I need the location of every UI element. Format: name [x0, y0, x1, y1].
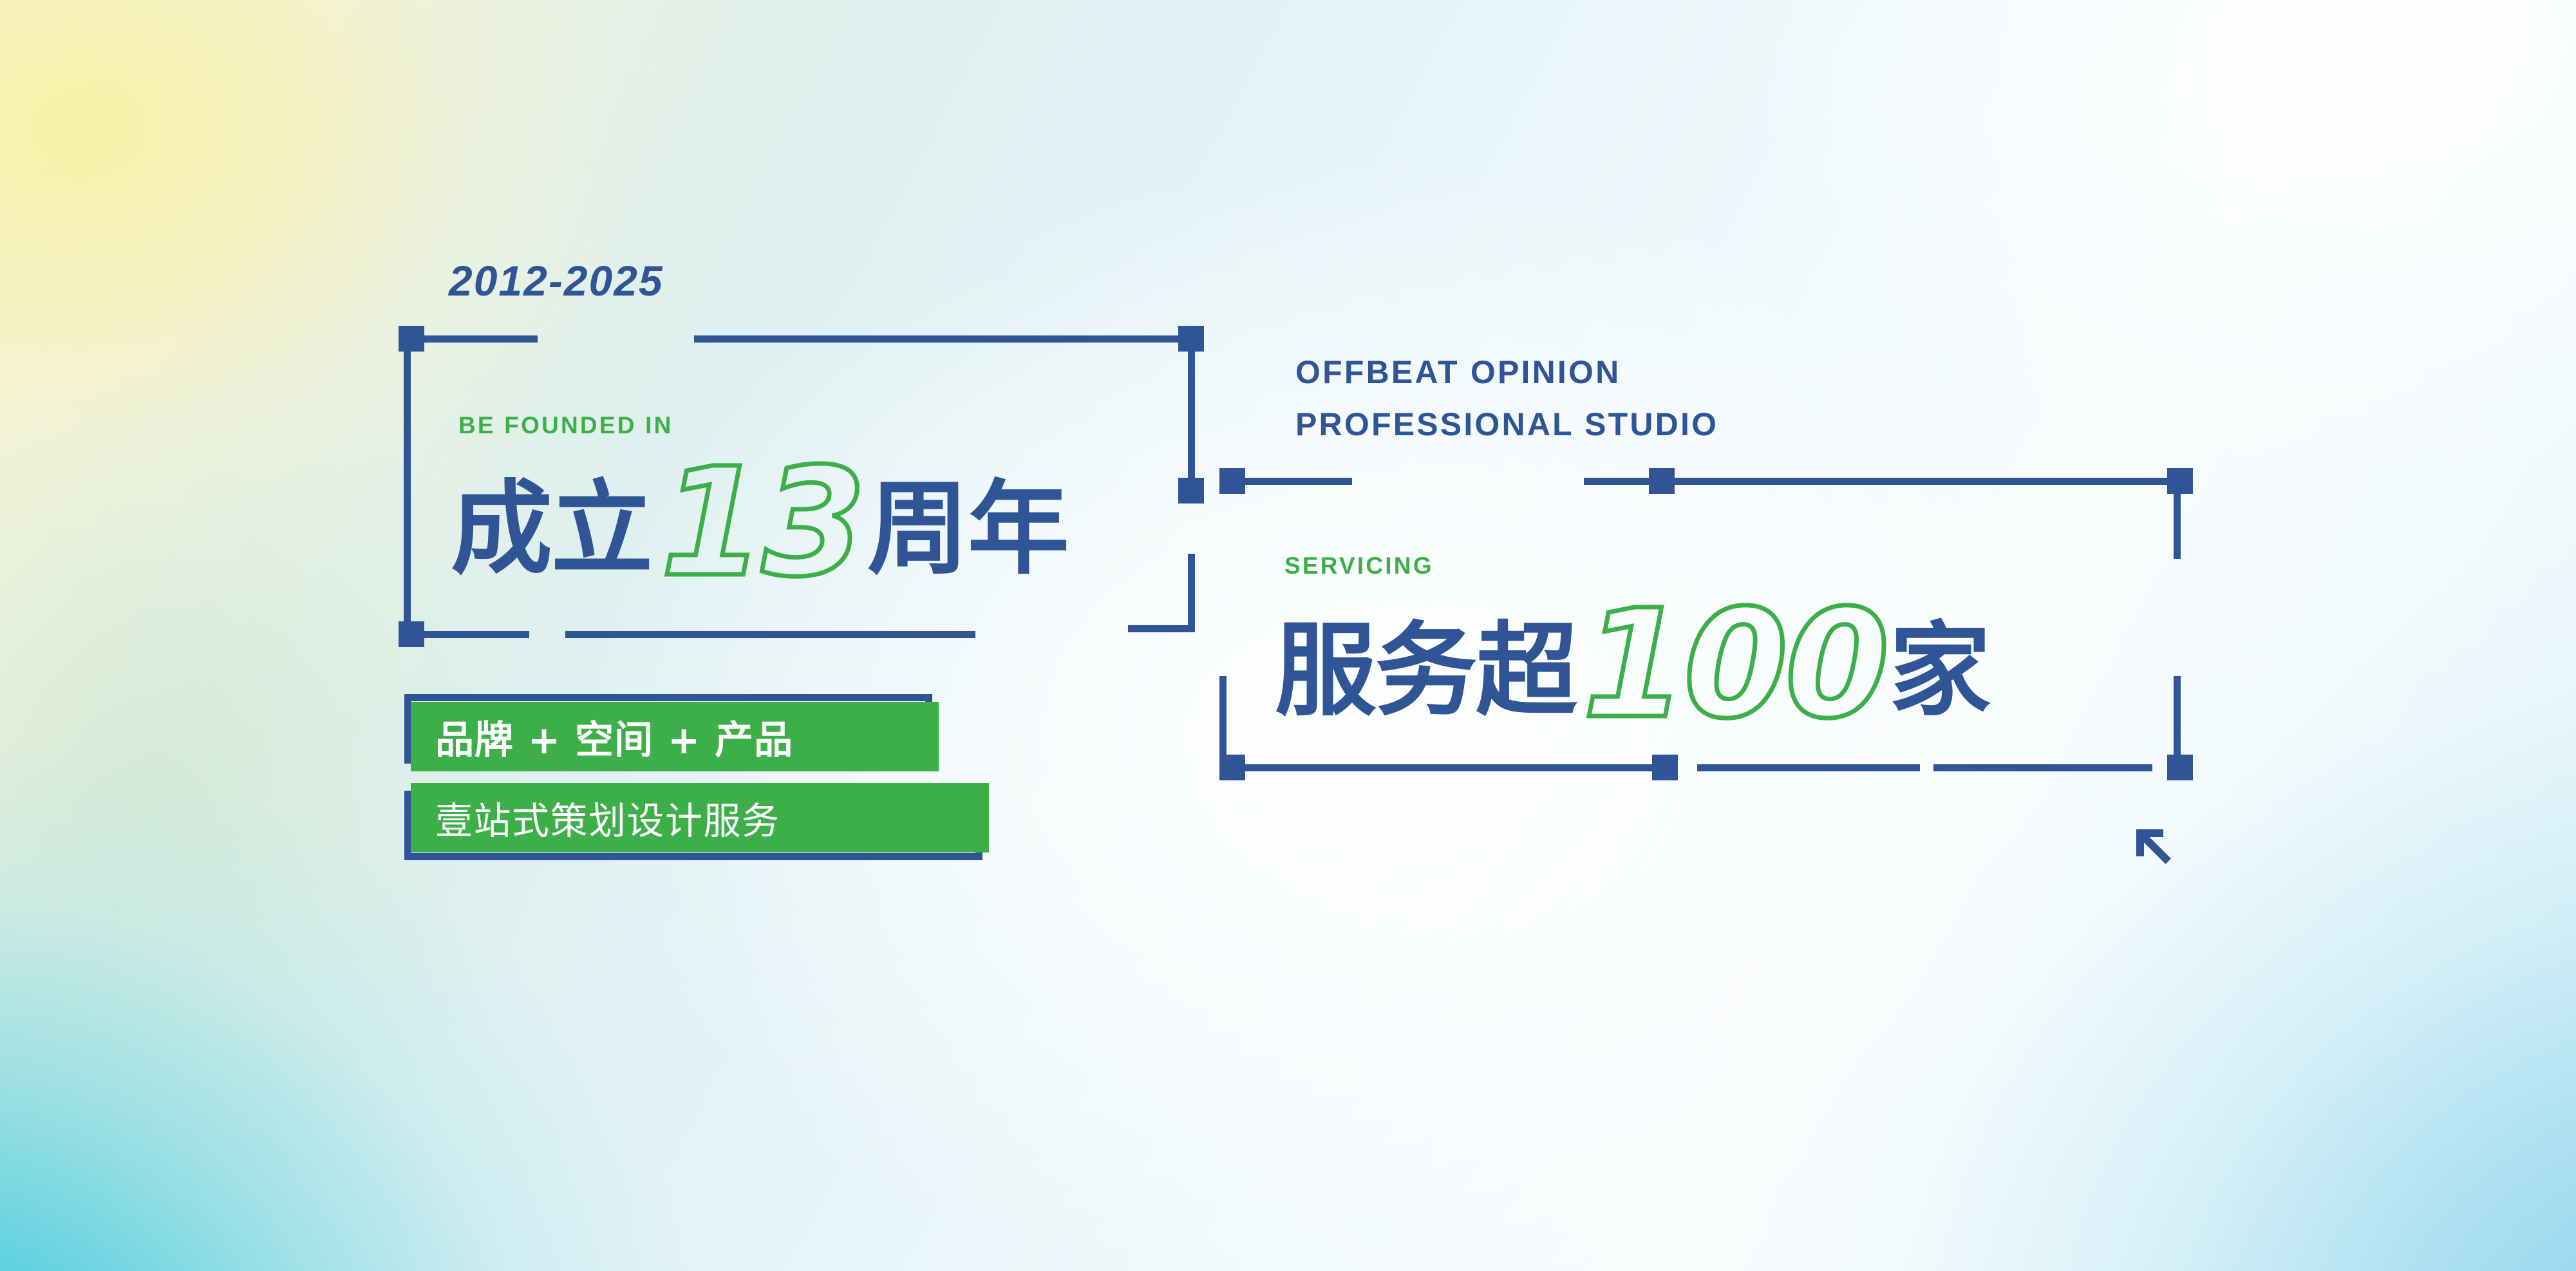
right-frame-node-top-right — [2167, 468, 2193, 494]
right-headline: 服务超 100 家 — [1275, 579, 1989, 729]
anniversary-number: 13 — [661, 448, 863, 598]
left-frame-right-lower-edge — [1188, 554, 1195, 632]
right-frame-bottom-segment-c — [1933, 764, 2152, 771]
right-frame-node-bottom-mid — [1652, 755, 1678, 780]
service-tag-2: 壹站式策划设计服务 — [411, 783, 989, 852]
right-frame-bottom-segment-b — [1697, 764, 1920, 771]
arrow-up-left-icon — [2134, 827, 2180, 873]
right-frame-node-top-mid — [1649, 468, 1675, 494]
be-founded-in-label: BE FOUNDED IN — [458, 412, 673, 439]
studio-name-line2: PROFESSIONAL STUDIO — [1295, 406, 1718, 443]
servicing-label: SERVICING — [1284, 552, 1434, 579]
right-frame-right-edge-top — [2174, 485, 2181, 559]
service-tag-1: 品牌 + 空间 + 产品 — [411, 702, 939, 771]
left-headline: 成立 13 周年 — [451, 438, 1068, 587]
left-frame-left-edge — [404, 341, 411, 634]
right-frame-node-top-left — [1219, 468, 1245, 494]
right-frame-top-segment-a — [1244, 478, 1352, 485]
right-frame-bottom-segment-a — [1244, 764, 1660, 771]
left-frame-node-top-right — [1178, 326, 1204, 352]
left-frame-bottom-segment-b — [565, 631, 975, 638]
left-frame-bottom-right-elbow — [1128, 625, 1195, 632]
right-frame-node-bottom-left — [1219, 755, 1245, 780]
left-frame-node-top-left — [399, 326, 424, 352]
studio-name-line1: OFFBEAT OPINION — [1295, 353, 1621, 391]
right-headline-prefix: 服务超 — [1275, 620, 1576, 722]
left-headline-prefix: 成立 — [451, 478, 652, 580]
right-headline-suffix: 家 — [1889, 620, 1989, 722]
left-frame-node-mid-right — [1178, 478, 1204, 504]
left-headline-suffix: 周年 — [867, 478, 1068, 580]
years-range-label: 2012-2025 — [449, 256, 664, 305]
left-frame-top-segment-a — [409, 335, 538, 343]
anniversary-banner: 2012-2025 BE FOUNDED IN 成立 13 周年 OFFBEAT… — [0, 0, 2576, 1271]
clients-count-number: 100 — [1583, 590, 1886, 739]
left-frame-node-bottom-left — [399, 621, 424, 647]
left-frame-top-segment-b — [694, 335, 1190, 343]
left-frame-right-edge — [1188, 341, 1195, 491]
left-frame-bottom-segment-a — [409, 631, 529, 638]
right-frame-node-bottom-right — [2167, 755, 2193, 780]
